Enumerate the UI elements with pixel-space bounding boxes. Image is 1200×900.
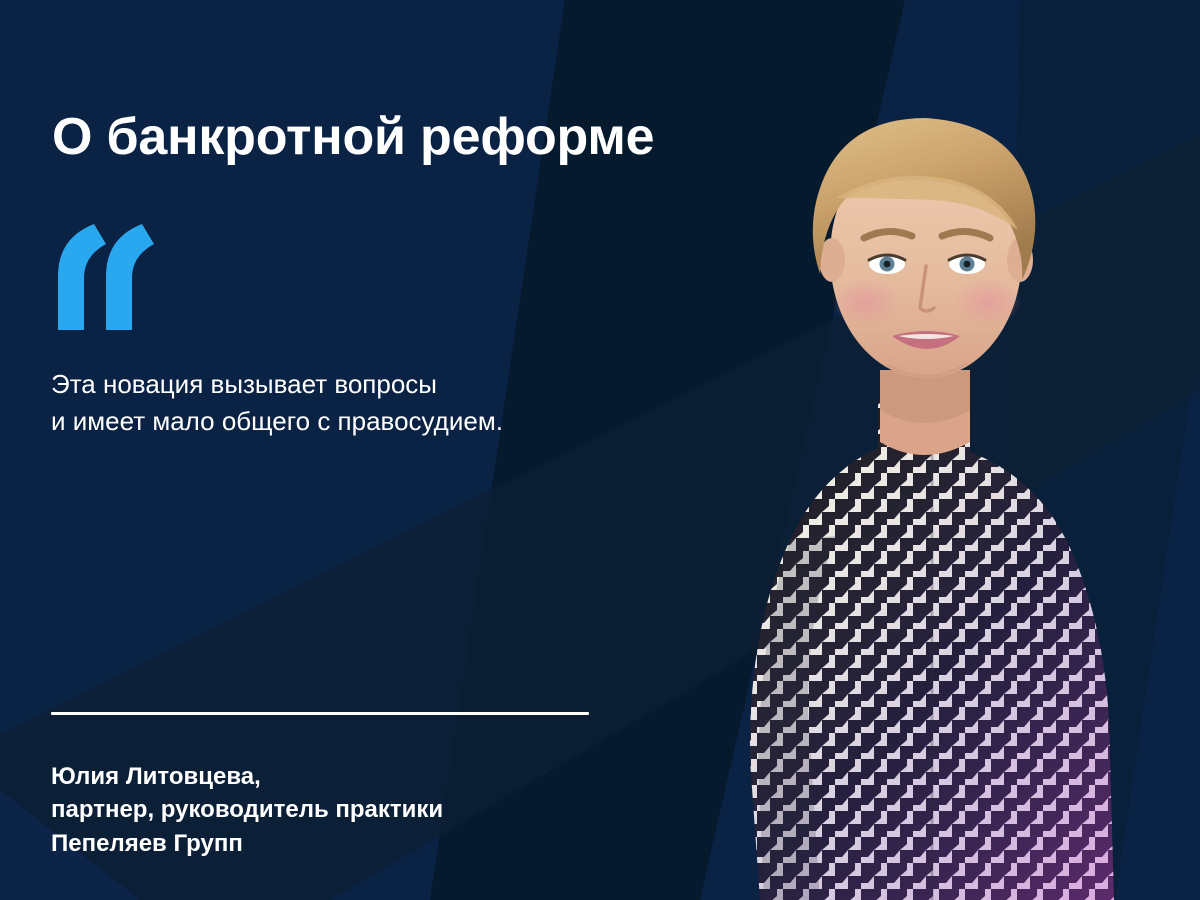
quote-card: О банкротной реформе Эта новация вызывае… bbox=[0, 0, 1200, 900]
page-title: О банкротной реформе bbox=[52, 110, 654, 165]
text-column: О банкротной реформе Эта новация вызывае… bbox=[0, 0, 700, 900]
attribution-text: Юлия Литовцева, партнер, руководитель пр… bbox=[51, 760, 443, 860]
quote-text: Эта новация вызывает вопросы и имеет мал… bbox=[51, 366, 503, 440]
attribution-divider bbox=[51, 712, 589, 715]
quote-open-mark-icon bbox=[50, 222, 160, 332]
